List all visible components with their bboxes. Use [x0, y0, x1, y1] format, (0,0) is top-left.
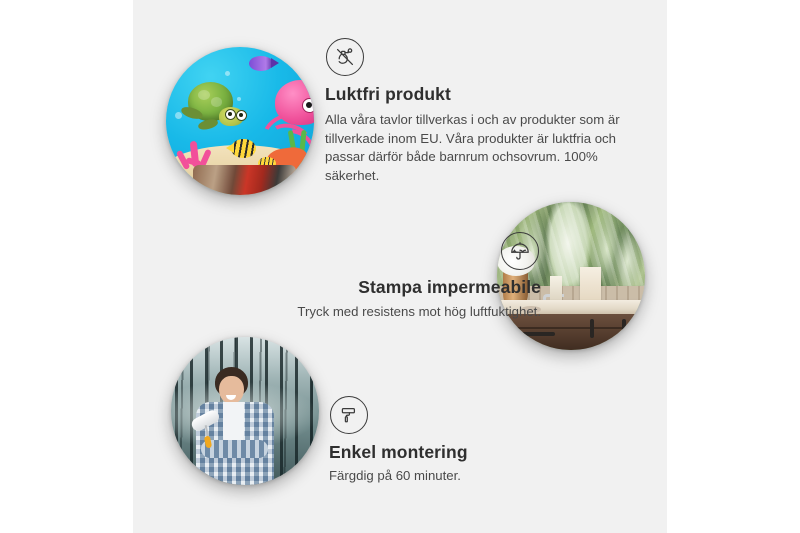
- feature-description: Alla våra tavlor tillverkas i och av pro…: [325, 111, 625, 186]
- photo-strip-overlay: [193, 165, 297, 195]
- octopus-eye: [302, 98, 314, 113]
- underwater-artwork: [166, 47, 314, 195]
- drawer-handle: [513, 332, 555, 336]
- woman-with-roller: [195, 367, 278, 485]
- paint-roller-tool: [191, 414, 226, 450]
- no-fragrance-spray-icon: [326, 38, 364, 76]
- umbrella-icon: [501, 232, 539, 270]
- feature-title: Luktfri produkt: [325, 84, 625, 106]
- bubble-icon: [175, 112, 182, 119]
- content-panel: Luktfri produkt Alla våra tavlor tillver…: [133, 0, 667, 533]
- feature-description: Tryck med resistens mot hög luftfuktighe…: [211, 303, 541, 322]
- cabinet-handle: [622, 319, 626, 337]
- roller-grip: [204, 436, 212, 449]
- icon-wrap: [211, 232, 541, 277]
- paint-roller-icon: [330, 396, 368, 434]
- feature-easy-assembly: Enkel montering Färgdig på 60 minuter.: [329, 396, 629, 486]
- feature-title: Stampa impermeabile: [211, 277, 541, 299]
- fish-yellow-striped: [231, 139, 256, 158]
- turtle-eye: [236, 110, 247, 121]
- feature-odor-free: Luktfri produkt Alla våra tavlor tillver…: [325, 38, 625, 186]
- icon-wrap: [329, 396, 629, 434]
- icon-wrap: [325, 38, 625, 76]
- forest-scene: [171, 337, 319, 485]
- bubble-icon: [225, 71, 230, 76]
- feature-waterproof: Stampa impermeabile Tryck med resistens …: [211, 232, 541, 322]
- photo-underwater-scene: [166, 47, 314, 195]
- photo-forest-installer: [171, 337, 319, 485]
- face: [219, 376, 244, 404]
- feature-title: Enkel montering: [329, 442, 629, 464]
- sea-turtle: [184, 80, 249, 133]
- screenshot-root: Luktfri produkt Alla våra tavlor tillver…: [0, 0, 800, 533]
- fish-purple: [249, 56, 273, 71]
- feature-description: Färgdig på 60 minuter.: [329, 467, 629, 486]
- cabinet-handle: [590, 319, 594, 337]
